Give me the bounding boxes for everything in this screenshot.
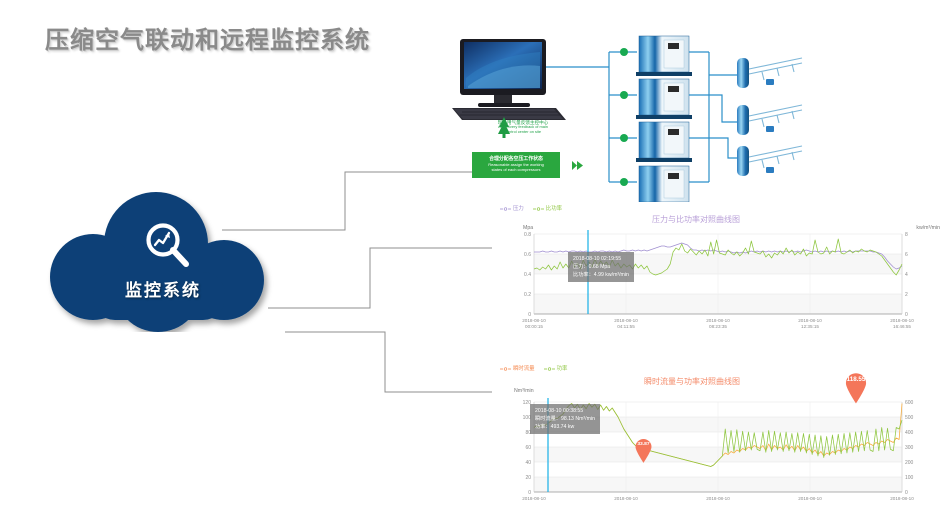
x-tick: 2018-08-10 [706,496,730,501]
y-tick-left: 0.4 [524,272,531,278]
y-tick-right: 400 [905,430,914,436]
chart-tooltip: 2018-08-10 02:19:55压力：0.68 Mpa比功率：4.99 k… [568,252,634,282]
status-node-dots [620,48,628,186]
data-marker-balloon[interactable]: 33.87 [634,438,653,463]
chart-tooltip: 2018-08-10 00:38:55瞬时流量：98.13 Nm³/min功率：… [530,404,600,434]
tooltip-time: 2018-08-10 02:19:55 [573,255,629,263]
y-tick-left: 60 [525,445,531,451]
tooltip-time: 2018-08-10 00:38:55 [535,407,595,415]
x-tick: 2018-08-10 [798,496,822,501]
x-tick: 2018-08-10 [522,318,546,323]
diagram-green-callout: 合理分配各空压工作状态 Reasonable assign the workin… [472,152,560,178]
cloud-shape [38,192,288,332]
y-tick-left: 40 [525,460,531,466]
green-callout-en-2: states of each compressors [472,168,560,173]
x-tick: 2018-08-10 [614,318,638,323]
y-tick-left: 0.6 [524,252,531,258]
x-tick: 2018-08-10 [706,318,730,323]
flow-power-chart[interactable]: 瞬时流量功率 瞬时流量与功率对照曲线图 Nm³/min 020406080100… [492,362,942,529]
pressure-specific-power-chart[interactable]: 压力比功率 压力与比功率对照曲线图 Mpa kw/m³/min 00.20.40… [492,202,942,337]
balloon-label: 33.87 [634,442,653,447]
right-arrow-icon [572,160,584,171]
y-tick-right: 100 [905,475,914,481]
y-tick-right: 200 [905,460,914,466]
compressor-units [636,36,692,206]
y-tick-left: 20 [525,475,531,481]
air-tank-group [737,58,802,176]
caption-en-2: control center on site [478,130,568,134]
x-tick: 12:35:15 [801,324,819,329]
x-tick: 2018-08-10 [890,318,914,323]
tooltip-row1: 压力：0.68 Mpa [573,263,629,271]
desktop-monitor-icon [452,39,566,120]
y-tick-left: 0.2 [524,292,531,298]
diagram-feedback-caption: 现场用气量反馈主控中心 Air delivery feedback of mai… [478,120,568,134]
y-tick-right: 8 [905,232,908,238]
x-tick: 00:00:15 [525,324,543,329]
y-tick-right: 300 [905,445,914,451]
system-diagram [432,22,942,207]
y-tick-right: 500 [905,415,914,421]
chart1-plot-area: 00.20.40.60.8024682018-08-1000:00:152018… [492,202,942,337]
x-tick: 2018-08-10 [798,318,822,323]
x-tick: 2018-08-10 [890,496,914,501]
balloon-label: 118.55 [844,376,868,383]
y-tick-right: 6 [905,252,908,258]
y-tick-right: 600 [905,400,914,406]
chart2-plot-area: 02040608010012001002003004005006002018-0… [492,362,942,529]
x-tick: 08:23:35 [709,324,727,329]
tooltip-row2: 比功率：4.99 kw/m³/min [573,271,629,279]
x-tick: 04:11:55 [617,324,635,329]
diagram-svg [432,22,942,207]
data-marker-balloon[interactable]: 118.55 [844,372,868,404]
y-tick-right: 2 [905,292,908,298]
monitoring-cloud[interactable]: 监控系统 [38,192,288,332]
y-tick-right: 4 [905,272,908,278]
x-tick: 16:46:55 [893,324,911,329]
x-tick: 2018-08-10 [522,496,546,501]
tooltip-row2: 功率：493.74 kw [535,423,595,431]
slide-canvas: 压缩空气联动和远程监控系统 [0,0,945,529]
tooltip-row1: 瞬时流量：98.13 Nm³/min [535,415,595,423]
x-tick: 2018-08-10 [614,496,638,501]
y-tick-left: 0.8 [524,232,531,238]
